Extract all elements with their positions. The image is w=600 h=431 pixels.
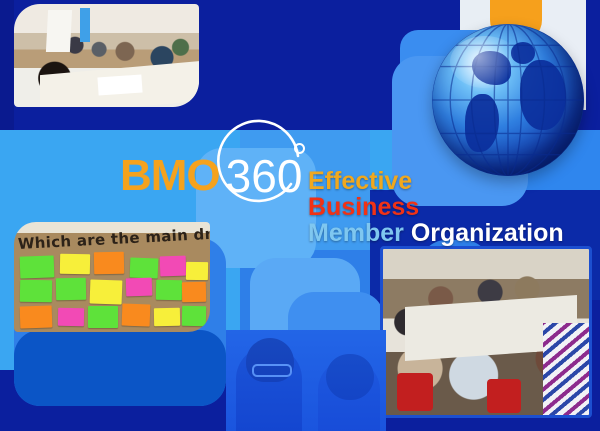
sticky-note xyxy=(20,280,52,303)
tagline: Effective Business Member Organization xyxy=(308,168,564,246)
tagline-line-2: Business xyxy=(308,194,564,220)
chair-shape xyxy=(487,379,521,413)
workshop-training-room-photo xyxy=(14,4,199,107)
patterned-fabric-shape xyxy=(543,323,589,415)
tagline-line-1: Effective xyxy=(308,168,564,194)
tagline-line-3: Member Organization xyxy=(308,220,564,246)
logo: BMO 360 xyxy=(120,148,302,204)
sticky-note xyxy=(160,256,187,277)
tagline-word-member: Member xyxy=(308,219,404,247)
background-block-navy-topleft xyxy=(0,0,14,130)
globe-illustration xyxy=(432,24,584,176)
sticky-note xyxy=(20,305,53,328)
sticky-note xyxy=(126,278,153,297)
background-block-navy-center xyxy=(280,0,400,130)
globe-sphere xyxy=(432,24,584,176)
group-discussion-photo xyxy=(380,246,592,418)
sticky-note xyxy=(58,308,84,326)
background-block-navy-right-edge xyxy=(586,0,600,130)
rounded-accent-lower-left-2 xyxy=(14,330,226,406)
logo-brand-primary: BMO xyxy=(120,154,220,198)
tagline-word-organization: Organization xyxy=(411,219,564,247)
flag-shape xyxy=(80,8,90,42)
sticky-note xyxy=(186,262,208,280)
globe-highlight xyxy=(450,36,520,88)
sticky-note xyxy=(90,279,123,304)
brochure-cover: Which are the main drivers xyxy=(0,0,600,431)
sticky-note xyxy=(94,252,124,275)
blue-duotone-overlay xyxy=(226,330,386,431)
sticky-note xyxy=(56,278,86,301)
logo-brand-secondary: 360 xyxy=(226,153,303,199)
sticky-note xyxy=(60,254,90,275)
sticky-note-wall-photo: Which are the main drivers xyxy=(14,222,210,332)
sticky-note xyxy=(122,304,151,327)
sticky-note xyxy=(182,306,206,326)
flipchart-shape xyxy=(46,10,72,52)
chair-shape xyxy=(397,373,433,411)
paper-shape xyxy=(97,74,142,95)
sticky-note xyxy=(20,255,55,278)
duotone-participants-photo xyxy=(226,330,386,431)
sticky-note xyxy=(88,306,118,328)
sticky-note xyxy=(156,280,182,300)
sticky-note xyxy=(130,258,159,279)
sticky-note xyxy=(182,282,206,302)
sticky-note xyxy=(154,308,180,326)
